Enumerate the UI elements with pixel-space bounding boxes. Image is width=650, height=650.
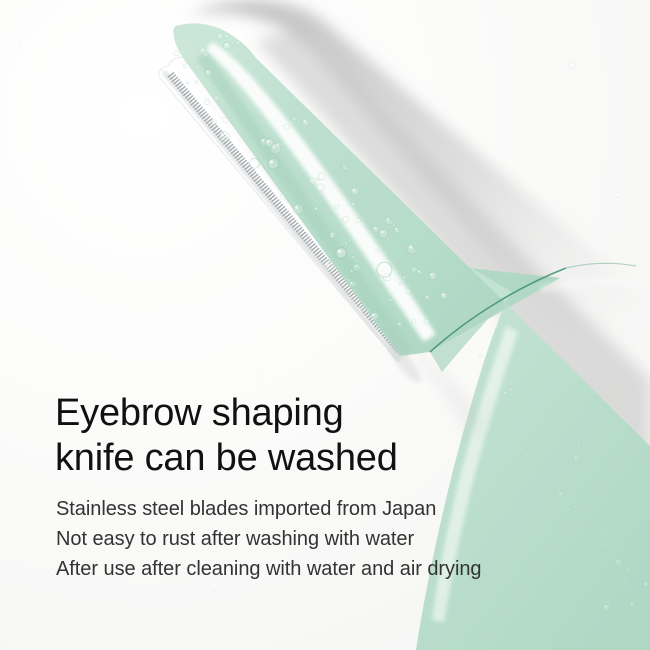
feature-item-1: Stainless steel blades imported from Jap…: [56, 494, 596, 524]
product-banner: Eyebrow shaping knife can be washed Stai…: [0, 0, 650, 650]
feature-item-3: After use after cleaning with water and …: [56, 554, 596, 584]
feature-list: Stainless steel blades imported from Jap…: [56, 494, 596, 584]
page-title: Eyebrow shaping knife can be washed: [55, 391, 575, 481]
feature-item-2: Not easy to rust after washing with wate…: [56, 524, 596, 554]
